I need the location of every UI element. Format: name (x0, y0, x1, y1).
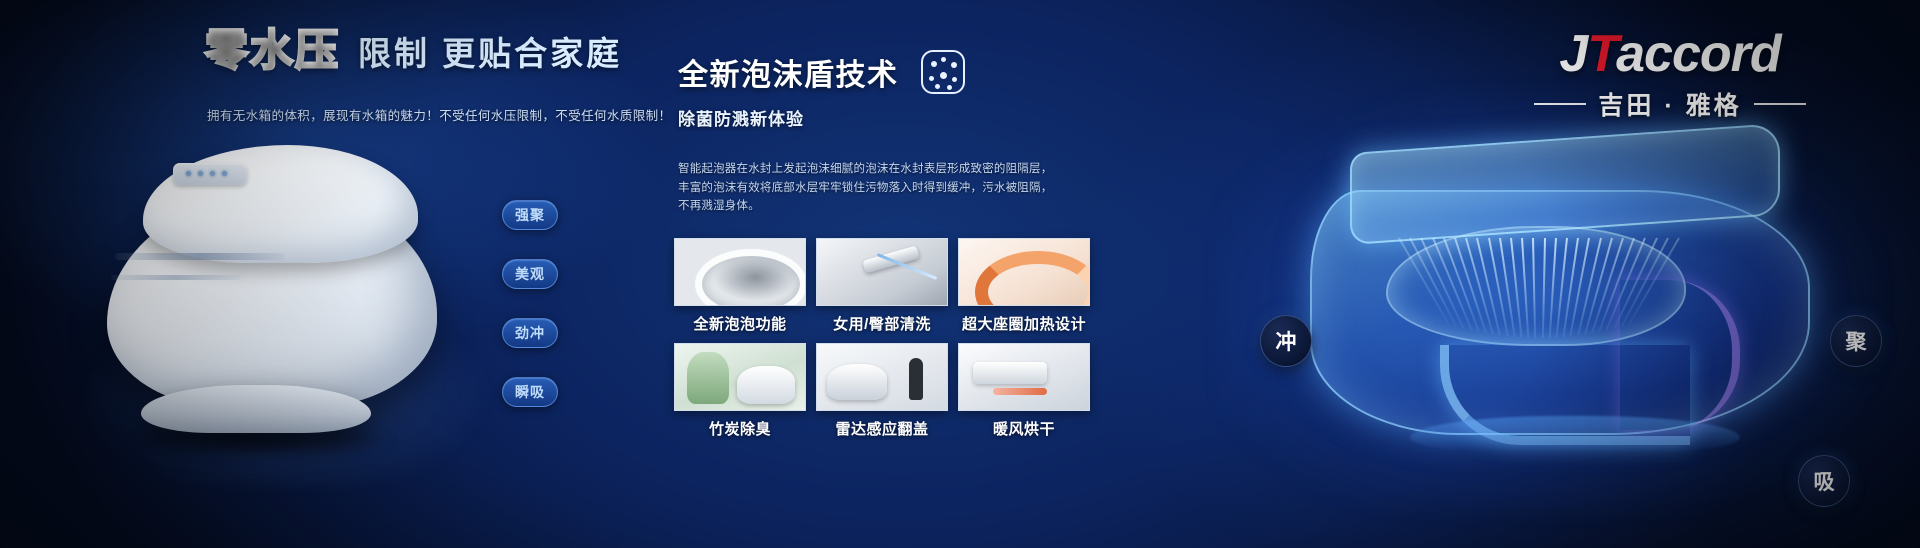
toilet-base-icon (141, 385, 371, 433)
badge-label: 吸 (1814, 466, 1835, 496)
seam-line-secondary (111, 275, 241, 280)
logo-rule-left (1534, 103, 1586, 105)
feature-caption: 竹炭除臭 (674, 418, 806, 439)
feature-card[interactable]: 竹炭除臭 (674, 343, 806, 439)
pill-badge[interactable]: 劲冲 (502, 318, 558, 348)
logo-chinese-name: 吉田 · 雅格 (1598, 86, 1741, 122)
pill-badge[interactable]: 强聚 (502, 200, 558, 230)
badge-gather[interactable]: 聚 (1830, 315, 1882, 367)
control-panel-icon (173, 163, 247, 185)
feature-card[interactable]: 全新泡泡功能 (674, 238, 806, 334)
middle-header: 全新泡沫盾技术 (678, 50, 965, 94)
feature-card[interactable]: 雷达感应翻盖 (816, 343, 948, 439)
pill-label: 美观 (515, 264, 545, 284)
feature-caption: 女用/臀部清洗 (816, 313, 948, 334)
pill-badge[interactable]: 瞬吸 (502, 377, 558, 407)
feature-caption: 雷达感应翻盖 (816, 418, 948, 439)
logo-rule-right (1754, 103, 1806, 105)
body-line: 不再溅湿身体。 (678, 197, 1098, 216)
badge-suction[interactable]: 吸 (1798, 455, 1850, 507)
left-section: 零水压 限制 更贴合家庭 拥有无水箱的体积，展现有水箱的魅力！不受任何水压限制，… (0, 0, 660, 548)
middle-section: 全新泡沫盾技术 除菌防溅新体验 智能起泡器在水封上发起泡沫细腻的泡沫在水封表层形… (660, 0, 1180, 548)
feature-caption: 超大座圈加热设计 (958, 313, 1090, 334)
logo-subline: 吉田 · 雅格 (1480, 86, 1860, 122)
pill-label: 强聚 (515, 205, 545, 225)
logo-wordmark: JTaccord (1559, 28, 1780, 80)
heated-seat-ring-photo (958, 238, 1090, 306)
middle-subheading: 除菌防溅新体验 (678, 105, 804, 130)
headline-sub: 限制 更贴合家庭 (358, 37, 622, 73)
feature-caption: 暖风烘干 (958, 418, 1090, 439)
left-subtitle: 拥有无水箱的体积，展现有水箱的魅力！不受任何水压限制，不受任何水质限制！ (207, 105, 671, 124)
toilet-product-illustration (95, 135, 470, 465)
badge-label: 冲 (1276, 326, 1297, 356)
bamboo-charcoal-photo (674, 343, 806, 411)
badge-label: 聚 (1846, 326, 1867, 356)
toilet-bowl-photo (674, 238, 806, 306)
feature-card[interactable]: 超大座圈加热设计 (958, 238, 1090, 334)
headline: 零水压 限制 更贴合家庭 (205, 30, 622, 73)
right-section: 冲 聚 吸 JTaccord 吉田 · 雅格 (1180, 0, 1920, 548)
logo-word-accord: accord (1616, 25, 1781, 83)
middle-title: 全新泡沫盾技术 (678, 50, 899, 94)
feature-card[interactable]: 女用/臀部清洗 (816, 238, 948, 334)
middle-body-text: 智能起泡器在水封上发起泡沫细腻的泡沫在水封表层形成致密的阻隔层， 丰富的泡沫有效… (678, 160, 1098, 216)
feature-pill-list: 强聚 美观 劲冲 瞬吸 (502, 200, 558, 407)
feature-card[interactable]: 暖风烘干 (958, 343, 1090, 439)
pill-label: 劲冲 (515, 323, 545, 343)
radar-sensor-lid-photo (816, 343, 948, 411)
logo-letter-j: J (1559, 25, 1587, 83)
foam-bubbles-icon (921, 50, 965, 94)
headline-main: 零水压 (205, 30, 340, 73)
brand-logo[interactable]: JTaccord 吉田 · 雅格 (1480, 28, 1860, 122)
product-banner: 零水压 限制 更贴合家庭 拥有无水箱的体积，展现有水箱的魅力！不受任何水压限制，… (0, 0, 1920, 548)
badge-flush[interactable]: 冲 (1260, 315, 1312, 367)
pill-label: 瞬吸 (515, 382, 545, 402)
body-line: 丰富的泡沫有效将底部水层牢牢锁住污物落入时得到缓冲，污水被阻隔， (678, 179, 1098, 198)
feature-caption: 全新泡泡功能 (674, 313, 806, 334)
body-line: 智能起泡器在水封上发起泡沫细腻的泡沫在水封表层形成致密的阻隔层， (678, 160, 1098, 179)
spray-nozzle-photo (816, 238, 948, 306)
warm-air-dryer-photo (958, 343, 1090, 411)
feature-thumbnail-grid: 全新泡泡功能 女用/臀部清洗 超大座圈加热设计 竹炭除臭 雷达感应翻盖 暖风烘干 (674, 238, 1090, 439)
pill-badge[interactable]: 美观 (502, 259, 558, 289)
logo-letter-t: T (1587, 25, 1616, 83)
xray-toilet-cutaway: 冲 聚 吸 (1290, 130, 1850, 460)
seam-line (115, 253, 285, 260)
